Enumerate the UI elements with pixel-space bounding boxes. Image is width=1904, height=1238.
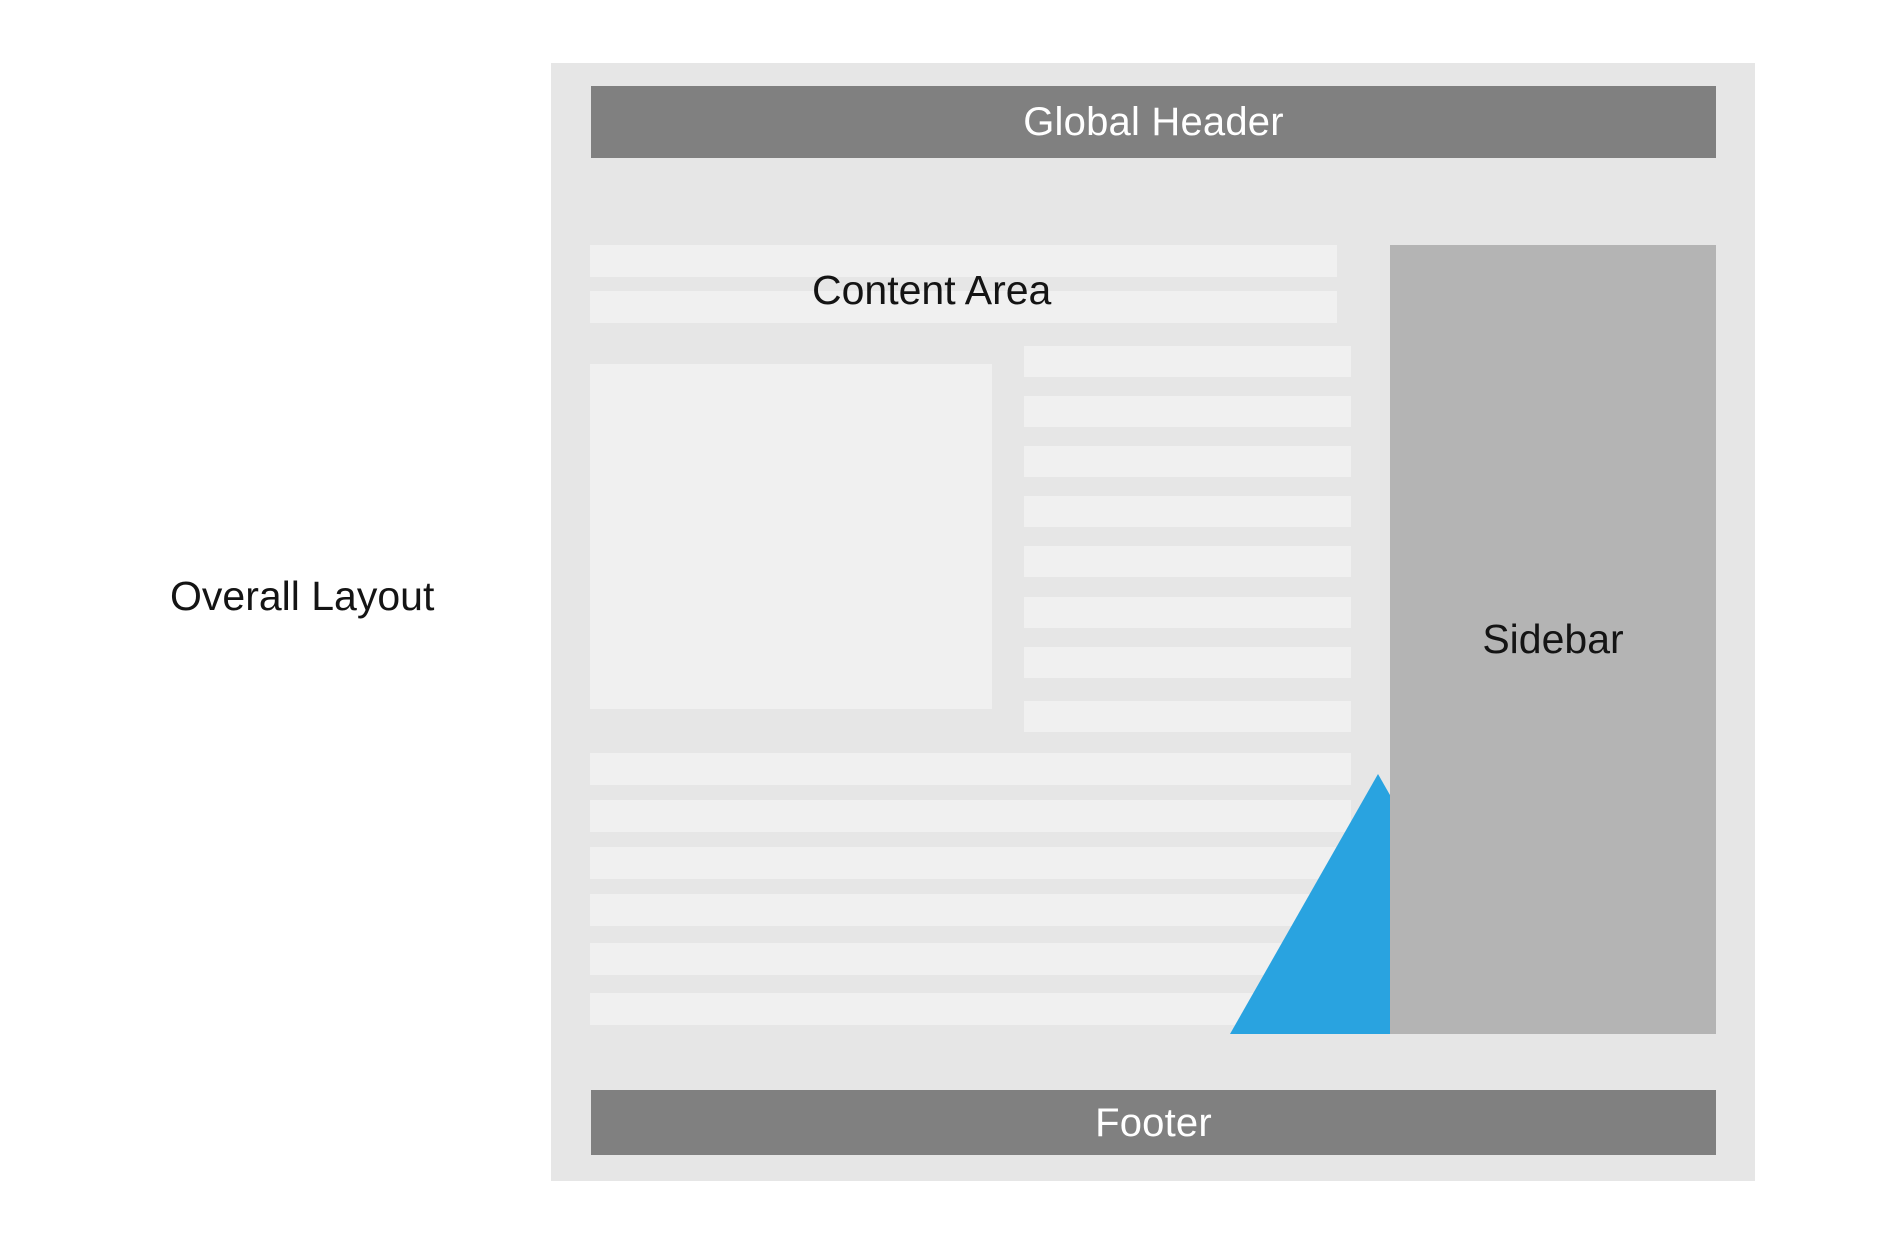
skeleton-text-row — [1024, 346, 1351, 377]
skeleton-text-row — [1024, 701, 1351, 732]
skeleton-text-row — [1024, 647, 1351, 678]
global-header-label: Global Header — [1023, 102, 1284, 142]
diagram-canvas: Overall Layout Global Header Content Are… — [0, 0, 1904, 1238]
image-placeholder-block[interactable] — [590, 364, 992, 709]
overall-layout-label: Overall Layout — [170, 572, 434, 621]
global-header-bar[interactable]: Global Header — [591, 86, 1716, 158]
sidebar-block[interactable]: Sidebar — [1390, 245, 1716, 1034]
sidebar-label: Sidebar — [1482, 619, 1623, 660]
skeleton-text-row — [1024, 597, 1351, 628]
content-area-label: Content Area — [812, 266, 1051, 315]
skeleton-text-row — [1024, 396, 1351, 427]
footer-bar[interactable]: Footer — [591, 1090, 1716, 1155]
skeleton-text-row — [1024, 446, 1351, 477]
footer-label: Footer — [1095, 1103, 1212, 1143]
skeleton-text-row — [1024, 496, 1351, 527]
skeleton-text-row — [1024, 546, 1351, 577]
